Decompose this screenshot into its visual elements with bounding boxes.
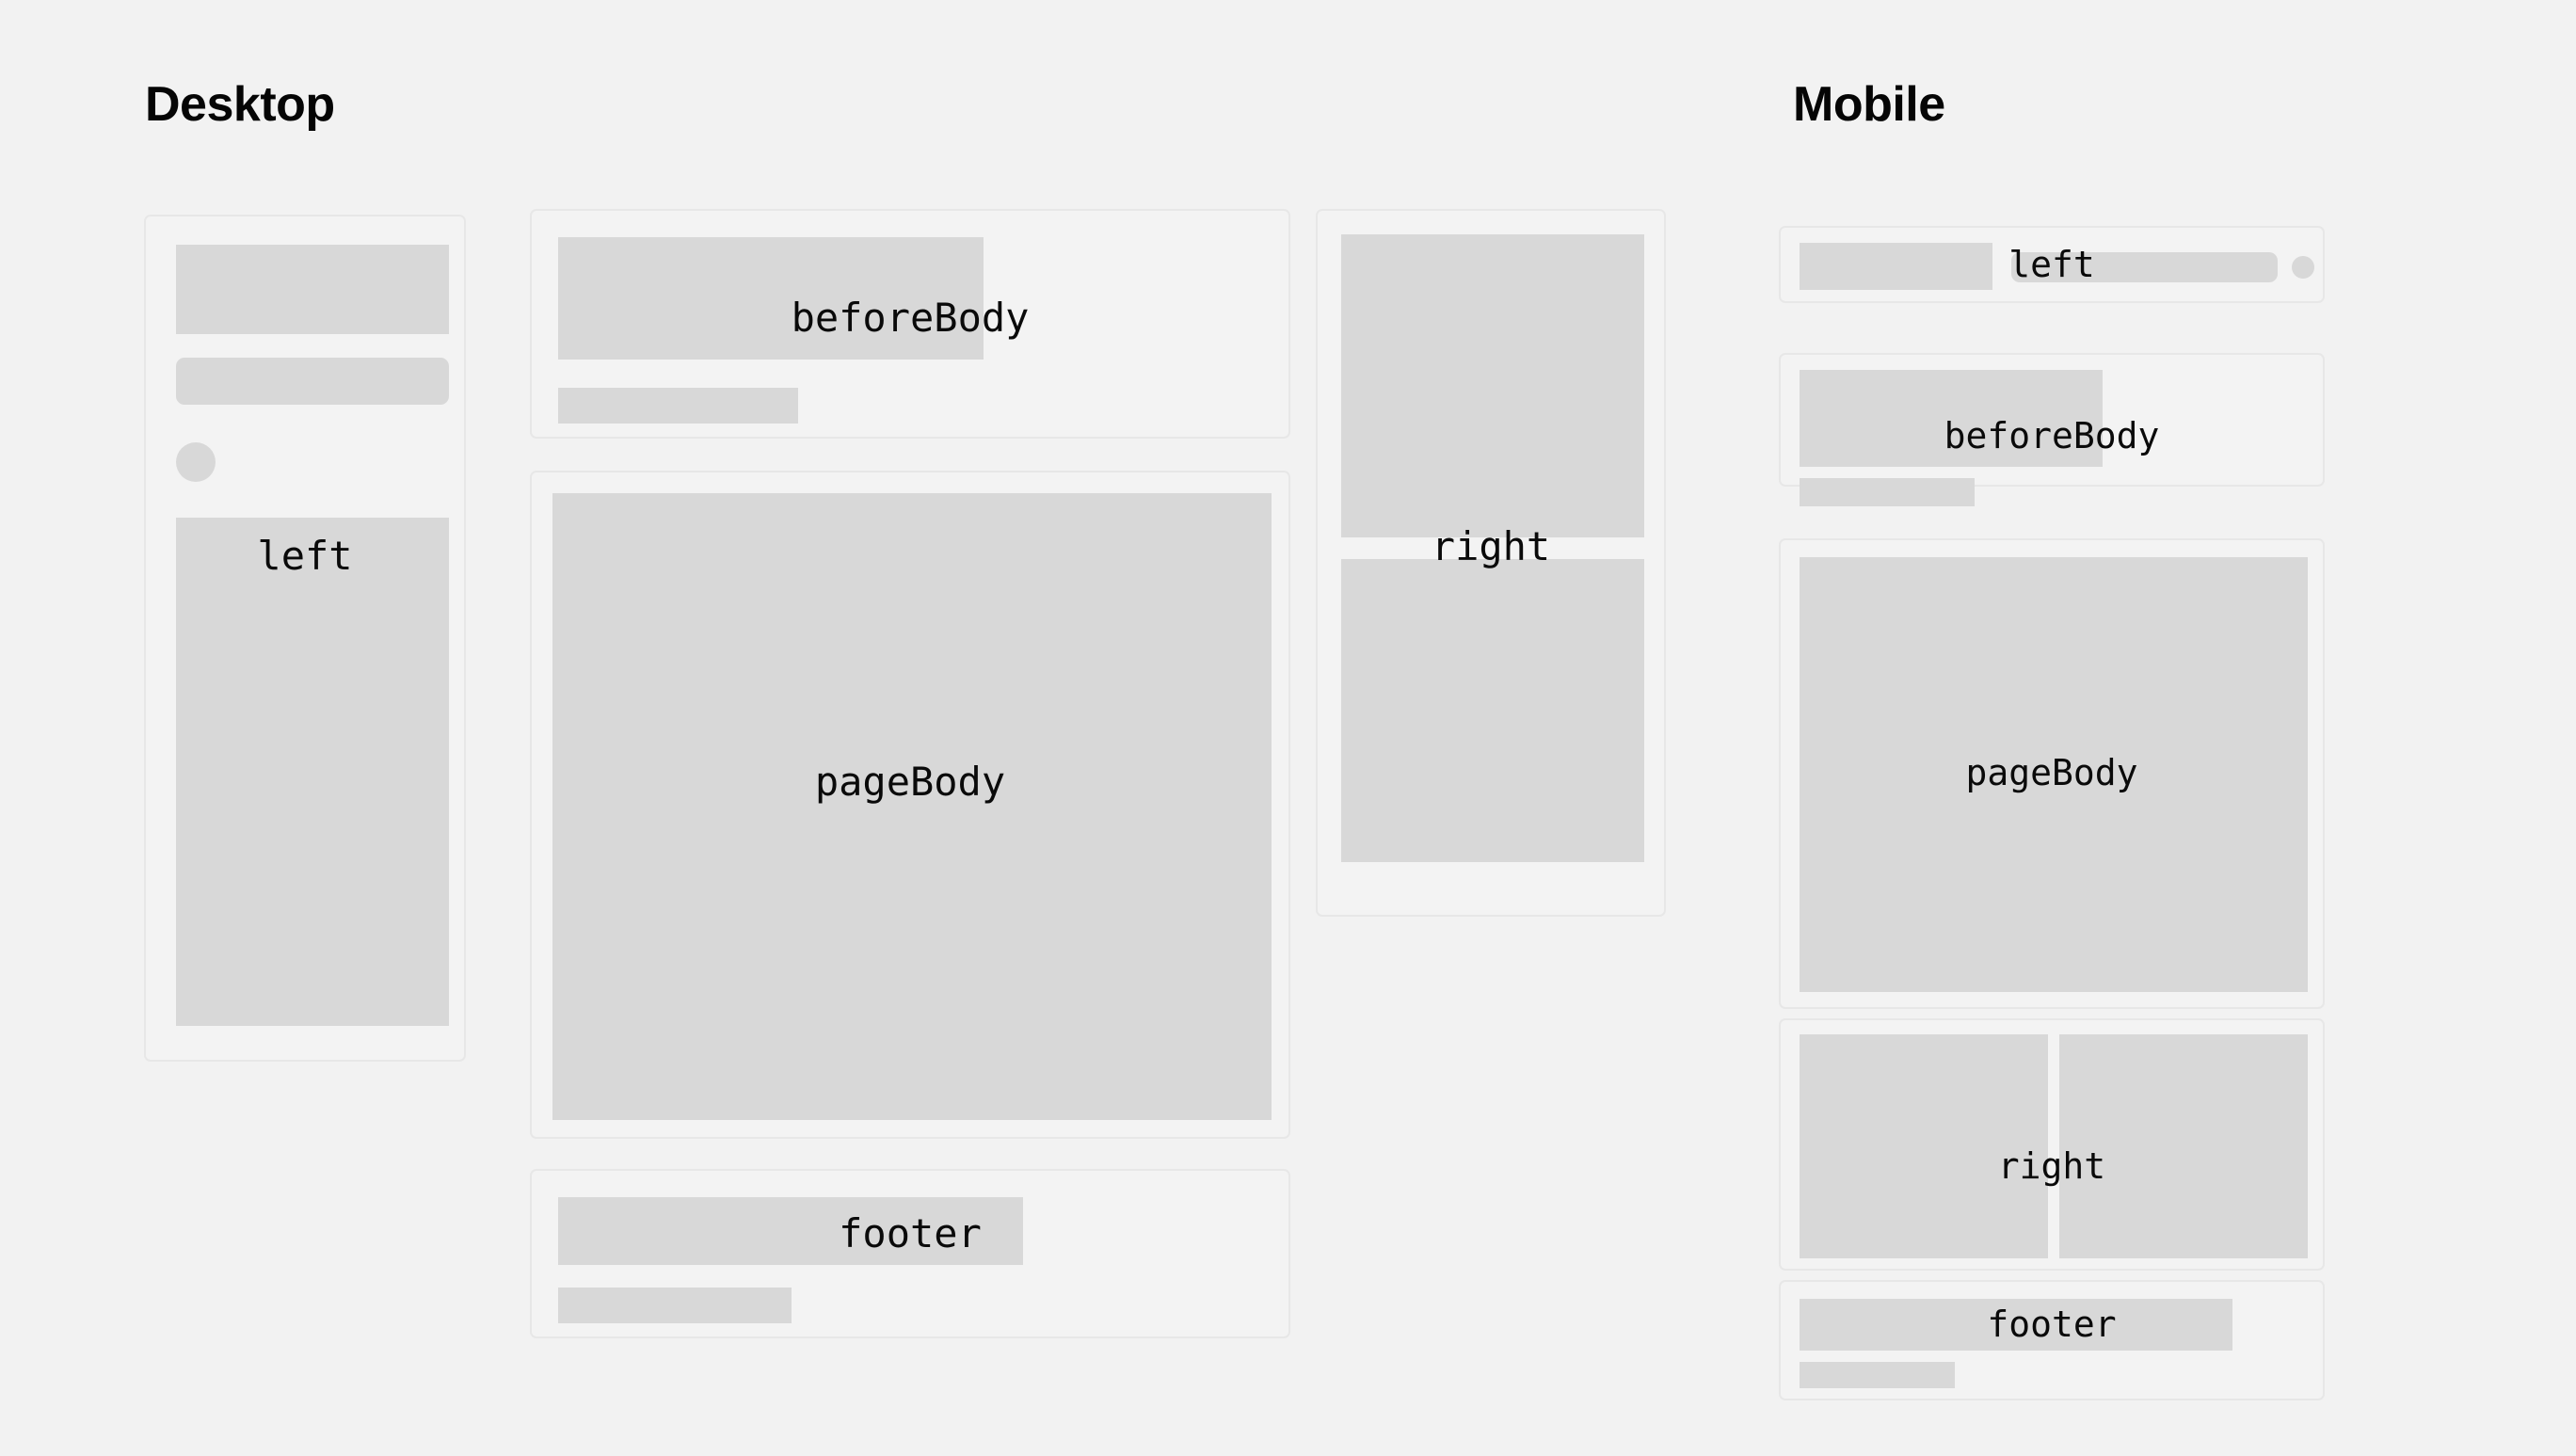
mobile-region-left-panel[interactable] bbox=[1779, 226, 2325, 303]
layout-preview-canvas: Desktop left beforeBody pageBody footer … bbox=[0, 0, 2576, 1456]
placeholder-block bbox=[1800, 557, 2308, 992]
placeholder-block bbox=[176, 245, 449, 334]
placeholder-block bbox=[1800, 370, 2103, 467]
mobile-region-beforebody-panel[interactable] bbox=[1779, 353, 2325, 487]
mobile-region-pagebody-panel[interactable] bbox=[1779, 538, 2325, 1009]
mobile-section-heading: Mobile bbox=[1793, 80, 1945, 129]
placeholder-avatar-circle bbox=[2292, 256, 2314, 279]
desktop-region-left-panel[interactable] bbox=[144, 215, 466, 1062]
desktop-region-right-panel[interactable] bbox=[1316, 209, 1666, 917]
placeholder-block bbox=[1800, 243, 1992, 290]
placeholder-bar bbox=[2011, 252, 2278, 282]
desktop-region-pagebody-panel[interactable] bbox=[530, 471, 1290, 1139]
placeholder-avatar-circle bbox=[176, 442, 216, 482]
placeholder-block bbox=[558, 1197, 1023, 1265]
desktop-region-beforebody-panel[interactable] bbox=[530, 209, 1290, 439]
mobile-region-footer-panel[interactable] bbox=[1779, 1280, 2325, 1400]
placeholder-block bbox=[1800, 1299, 2232, 1351]
placeholder-block bbox=[558, 237, 984, 360]
placeholder-bar bbox=[558, 1288, 792, 1323]
placeholder-block bbox=[176, 518, 449, 1026]
placeholder-block bbox=[1800, 1034, 2048, 1258]
desktop-section-heading: Desktop bbox=[145, 80, 335, 129]
placeholder-block bbox=[1341, 559, 1644, 862]
placeholder-block bbox=[552, 493, 1272, 1120]
placeholder-block bbox=[2059, 1034, 2308, 1258]
placeholder-bar bbox=[558, 388, 798, 424]
desktop-region-footer-panel[interactable] bbox=[530, 1169, 1290, 1338]
placeholder-bar bbox=[1800, 478, 1975, 506]
placeholder-block bbox=[1341, 234, 1644, 537]
placeholder-bar bbox=[176, 358, 449, 405]
placeholder-bar bbox=[1800, 1362, 1955, 1388]
mobile-region-right-panel[interactable] bbox=[1779, 1018, 2325, 1271]
